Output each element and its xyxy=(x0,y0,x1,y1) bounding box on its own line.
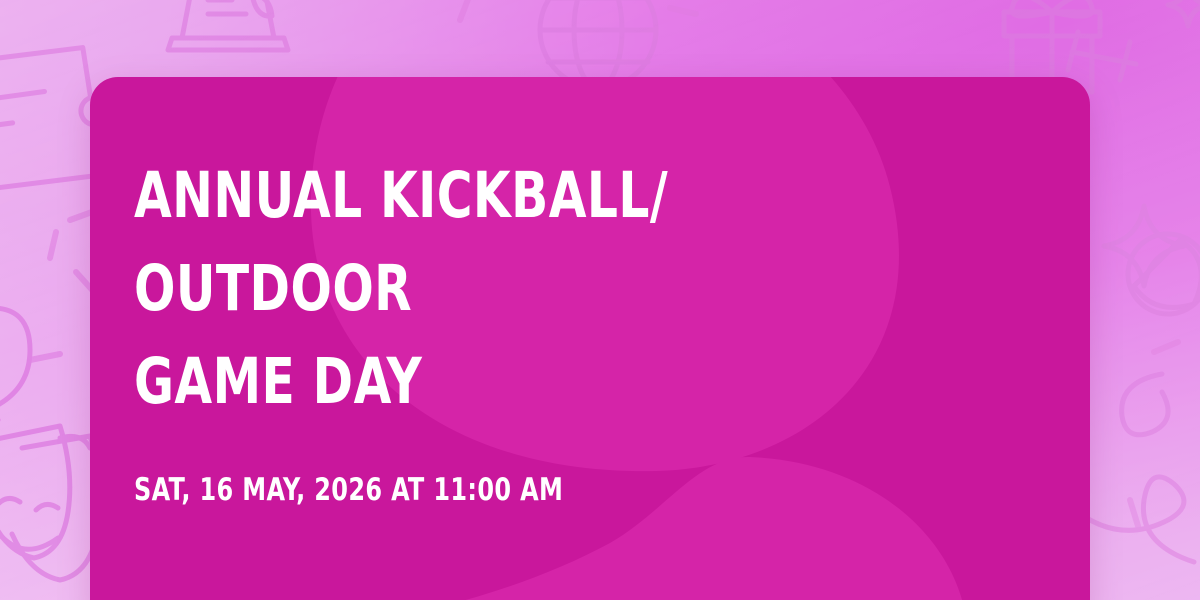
event-title: Annual Kickball/ Outdoor Game Day xyxy=(134,149,922,428)
headphones-icon xyxy=(1068,32,1136,80)
sparkle-icon xyxy=(1104,206,1184,286)
event-card[interactable]: Annual Kickball/ Outdoor Game Day Sat, 1… xyxy=(90,77,1090,600)
sparkle-small-icon xyxy=(1168,0,1200,26)
event-datetime: Sat, 16 May, 2026 at 11:00 AM xyxy=(134,472,922,508)
laptop-icon xyxy=(168,0,288,50)
theater-masks-icon xyxy=(0,426,101,580)
balloon-icon xyxy=(0,308,30,454)
microphone-icon xyxy=(1128,234,1200,342)
event-banner: Annual Kickball/ Outdoor Game Day Sat, 1… xyxy=(0,0,1200,600)
event-card-content: Annual Kickball/ Outdoor Game Day Sat, 1… xyxy=(134,149,1050,508)
globe-icon xyxy=(540,0,656,88)
